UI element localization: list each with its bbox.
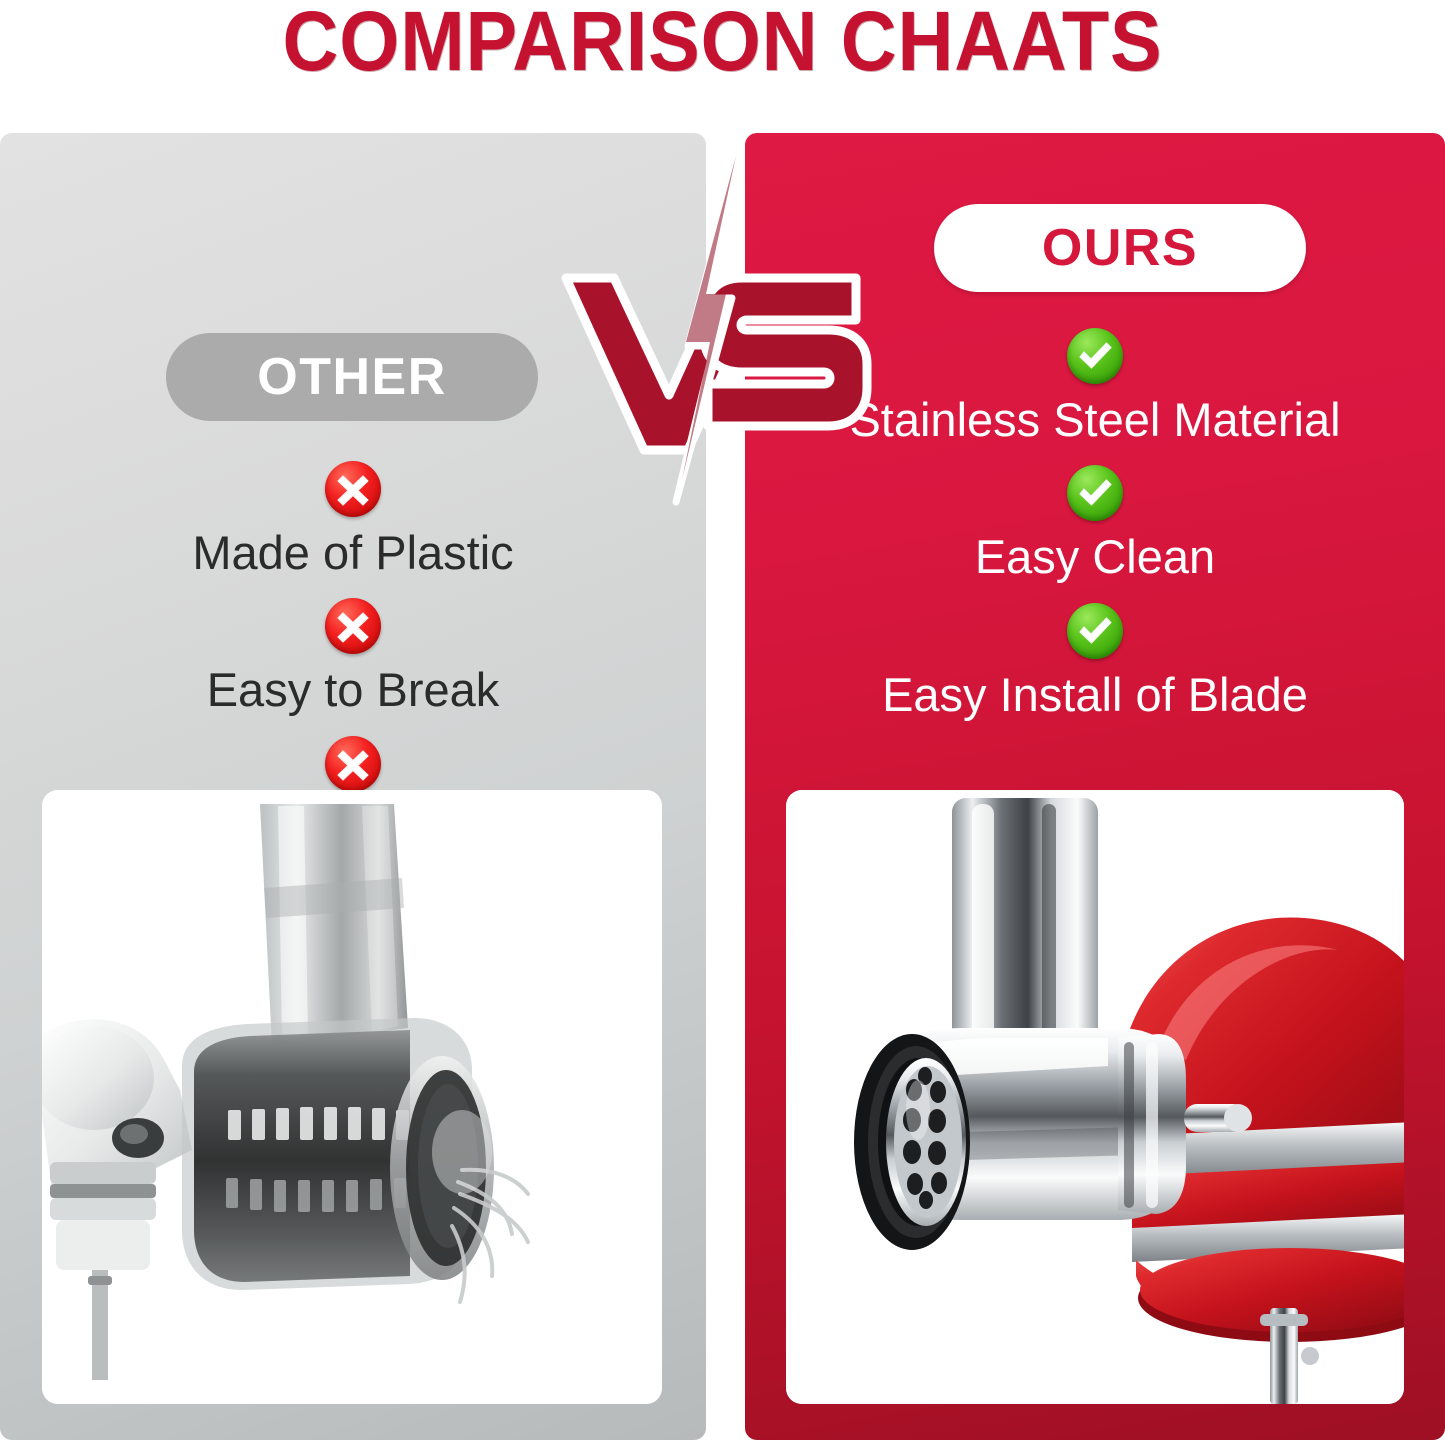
- feature-label: Easy Clean: [975, 529, 1215, 584]
- list-item: Easy Clean: [745, 465, 1445, 584]
- list-item: Easy to Break: [0, 598, 706, 717]
- column-header-pill-other: OTHER: [166, 333, 538, 421]
- feature-label: Stainless Steel Material: [849, 392, 1340, 447]
- list-item: Made of Plastic: [0, 461, 706, 580]
- check-icon: [1067, 603, 1123, 659]
- cross-icon: [325, 461, 381, 517]
- column-header-label-ours: OURS: [1042, 218, 1198, 278]
- stainless-grinder-attachment-illustration: [786, 790, 1404, 1404]
- column-header-pill-ours: OURS: [934, 204, 1306, 292]
- cross-icon: [325, 736, 381, 792]
- page-title: COMPARISON CHAATS: [58, 0, 1387, 88]
- column-header-label-other: OTHER: [257, 347, 447, 407]
- feature-label: Easy to Break: [207, 662, 500, 717]
- feature-label: Made of Plastic: [192, 525, 513, 580]
- list-item: Easy Install of Blade: [745, 603, 1445, 722]
- plastic-slicer-attachment-illustration: [42, 790, 662, 1404]
- check-icon: [1067, 328, 1123, 384]
- feature-label: Easy Install of Blade: [882, 667, 1308, 722]
- check-icon: [1067, 465, 1123, 521]
- product-photo-other: [42, 790, 662, 1404]
- list-item: Stainless Steel Material: [745, 328, 1445, 447]
- product-photo-ours: [786, 790, 1404, 1404]
- feature-list-ours: Stainless Steel Material Easy Clean Easy…: [745, 328, 1445, 722]
- cross-icon: [325, 598, 381, 654]
